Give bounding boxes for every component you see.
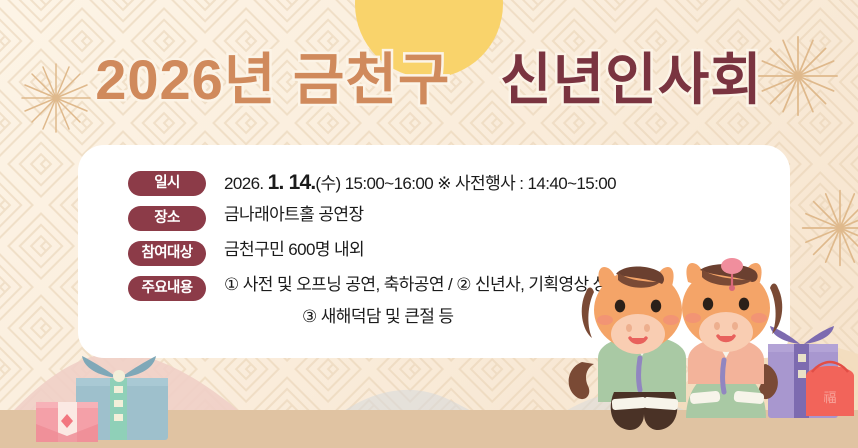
label-audience: 참여대상 (128, 241, 206, 266)
label-datetime: 일시 (128, 171, 206, 196)
value-datetime: 2026. 1. 14.(수) 15:00~16:00 ※ 사전행사 : 14:… (224, 169, 616, 197)
label-venue: 장소 (128, 206, 206, 231)
page-title: 2026년 금천구 신년인사회 (0, 52, 858, 108)
horse-character-right (682, 258, 782, 418)
fortune-pouch-red: 福 (806, 362, 854, 416)
horse-character-left (569, 267, 686, 431)
datetime-emphasis: 1. 14. (268, 171, 316, 194)
event-poster: 2026년 금천구 신년인사회 일시 2026. 1. 14.(수) 15:00… (0, 0, 858, 448)
info-row-venue: 장소 금나래아트홀 공연장 (128, 204, 772, 232)
value-audience: 금천구민 600명 내외 (224, 239, 364, 262)
datetime-prefix: 2026. (224, 174, 268, 193)
datetime-suffix: (수) 15:00~16:00 ※ 사전행사 : 14:40~15:00 (315, 174, 616, 193)
gift-boxes-left (28, 340, 208, 448)
info-row-datetime: 일시 2026. 1. 14.(수) 15:00~16:00 ※ 사전행사 : … (128, 169, 772, 197)
value-venue: 금나래아트홀 공연장 (224, 204, 363, 227)
horse-characters-group: 福 (560, 252, 858, 448)
title-part-maroon: 신년인사회 (500, 48, 763, 111)
label-program: 주요내용 (128, 276, 206, 301)
value-program-continued: ③ 새해덕담 및 큰절 등 (302, 306, 453, 329)
title-part-orange: 2026년 금천구 (95, 48, 450, 111)
svg-text:福: 福 (823, 390, 836, 405)
